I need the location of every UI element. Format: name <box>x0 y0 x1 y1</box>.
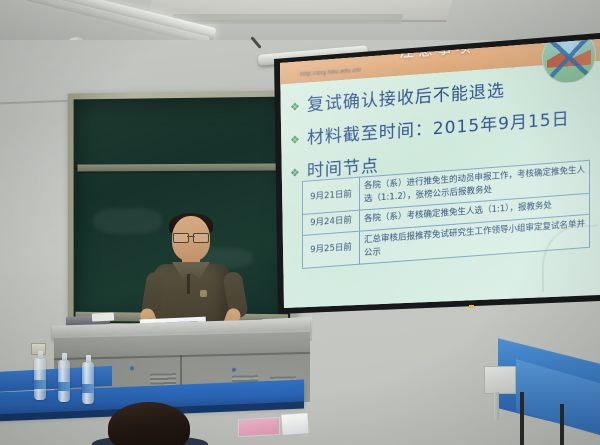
water-bottle <box>58 360 70 402</box>
shirt-placket <box>187 274 190 294</box>
shirt-logo-patch <box>200 290 207 297</box>
bullet-diamond-icon: ❖ <box>290 133 300 147</box>
screen-bottom-marker <box>469 305 474 308</box>
bullet-highlight-date: 2015年9月15日 <box>433 104 570 139</box>
table-leg <box>560 404 564 445</box>
bullet-text: 材料截至时间： <box>307 114 433 148</box>
chalkboard-middle-rail <box>77 163 286 171</box>
bullet-diamond-icon: ❖ <box>290 100 300 114</box>
glasses-icon <box>173 233 209 241</box>
pink-notebook <box>238 417 280 437</box>
table-leg <box>520 392 524 445</box>
cabinet-seam <box>54 352 310 360</box>
wall-access-panel <box>484 366 516 394</box>
student-head <box>108 402 190 445</box>
podium-paper-stack <box>92 312 114 321</box>
ceiling-beam-secondary <box>170 14 403 24</box>
schedule-date: 9月21日前 <box>303 177 360 215</box>
wall-pipe <box>494 392 499 420</box>
cabinet-lock[interactable] <box>130 366 134 370</box>
classroom-photo: 注意事项 http://dsy.hbu.edu.cn/ ❖ 复试确认接收后不能退… <box>0 0 600 445</box>
cabinet-lock[interactable] <box>232 368 236 372</box>
presentation-slide: 注意事项 http://dsy.hbu.edu.cn/ ❖ 复试确认接收后不能退… <box>274 36 600 309</box>
bullet-diamond-icon: ❖ <box>290 166 300 180</box>
schedule-date: 9月25日前 <box>303 231 360 269</box>
paper-sheet <box>281 413 308 435</box>
projector-screen: 注意事项 http://dsy.hbu.edu.cn/ ❖ 复试确认接收后不能退… <box>274 36 600 309</box>
water-bottle <box>34 358 46 400</box>
water-bottle <box>82 362 94 404</box>
bullet-text: 复试确认接收后不能退选 <box>307 76 505 116</box>
